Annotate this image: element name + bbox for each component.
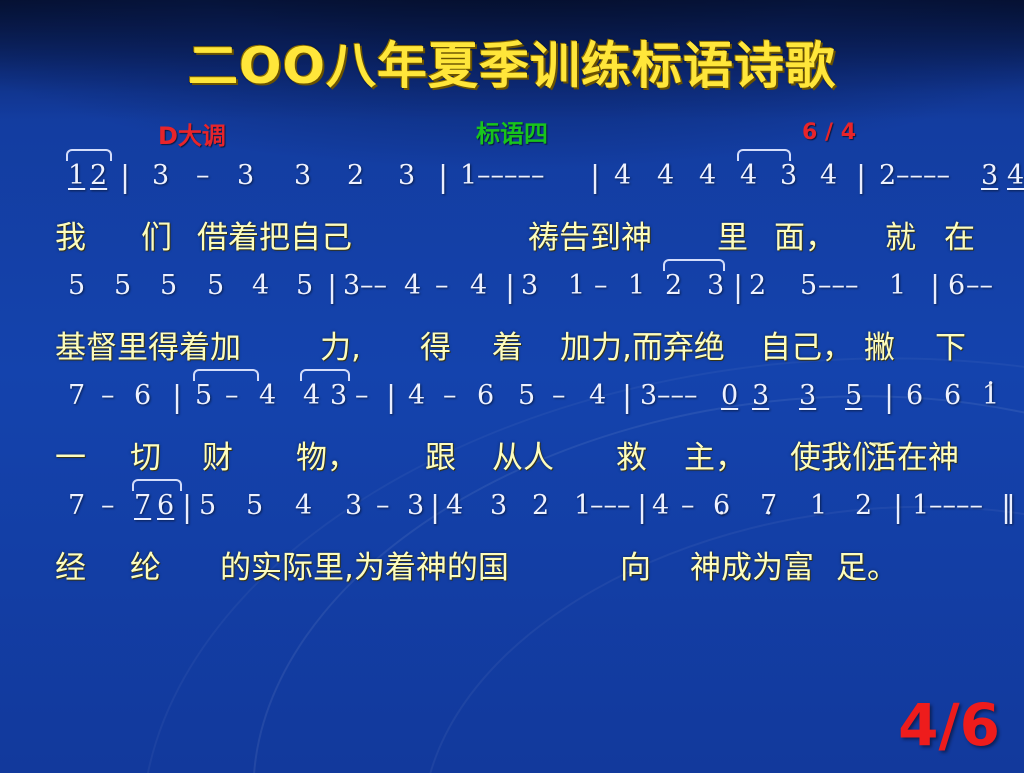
- lyric-token: 力,: [320, 322, 361, 367]
- lyric-token: 里: [717, 212, 748, 257]
- slur-mark: [737, 149, 791, 161]
- note-token: 4: [295, 490, 312, 521]
- note-token: 2: [665, 270, 682, 301]
- lyric-token: 一: [55, 432, 86, 477]
- note-token: 1: [574, 490, 591, 521]
- slur-mark: [663, 259, 725, 271]
- note-token: –––: [590, 490, 631, 521]
- note-token: 4: [657, 160, 674, 191]
- lyric-token: 救: [616, 432, 647, 477]
- note-token: |: [622, 380, 632, 415]
- note-token: 5: [160, 270, 177, 301]
- slur-mark: [300, 369, 350, 381]
- note-token: ––––: [929, 490, 983, 521]
- note-token: |: [172, 380, 182, 415]
- lyric-line: 经纶的实际里,为着神的国向神成为富足。: [0, 542, 1024, 600]
- note-token: 4: [404, 270, 421, 301]
- note-token: 3: [345, 490, 362, 521]
- score-system: 555545|3––4–4|31–123|25–––1|6––基督里得着加力,得…: [0, 270, 1024, 380]
- note-token: 3: [780, 160, 797, 191]
- note-token: 2: [749, 270, 766, 301]
- note-token: 2: [855, 490, 872, 521]
- note-token: 1: [68, 160, 85, 191]
- note-token: 6: [134, 380, 151, 411]
- note-token: 6: [713, 490, 730, 521]
- note-token: ––: [360, 270, 387, 301]
- note-token: |: [182, 490, 189, 525]
- note-token: –: [552, 380, 566, 411]
- slide-title: 二OO八年夏季训练标语诗歌: [0, 26, 1024, 98]
- lyric-token: 撇: [864, 322, 895, 367]
- note-token: ––––: [896, 160, 950, 191]
- lyric-token: 着: [492, 322, 523, 367]
- note-token: 1: [568, 270, 585, 301]
- note-token: –: [435, 270, 449, 301]
- note-token: –: [196, 160, 210, 191]
- notation-line: 7–76|5543–3|4321–––|4–6712|1––––‖: [0, 490, 1024, 542]
- note-token: 2: [90, 160, 107, 191]
- lyric-token: 经: [55, 542, 86, 587]
- note-token: 3: [490, 490, 507, 521]
- lyric-token: 活在神: [866, 432, 959, 477]
- note-token: 5: [246, 490, 263, 521]
- note-token: |: [327, 270, 337, 305]
- note-token: |: [856, 160, 866, 195]
- note-token: |: [637, 490, 647, 525]
- note-token: |: [884, 380, 894, 415]
- score-system: 7–6|5–443–|4–65–4|3–––0335|661一切财物，跟从人救主…: [0, 380, 1024, 490]
- lyric-token: 切: [130, 432, 161, 477]
- note-token: 4: [820, 160, 837, 191]
- notation-line: 555545|3––4–4|31–123|25–––1|6––: [0, 270, 1024, 322]
- note-token: |: [893, 490, 903, 525]
- note-token: 6: [477, 380, 494, 411]
- lyric-token: 纶: [130, 542, 161, 587]
- note-token: 7: [68, 380, 85, 411]
- note-token: 1: [628, 270, 645, 301]
- note-token: 5: [114, 270, 131, 301]
- notation-line: 7–6|5–443–|4–65–4|3–––0335|661: [0, 380, 1024, 432]
- score-system: 7–76|5543–3|4321–––|4–6712|1––––‖经纶的实际里,…: [0, 490, 1024, 600]
- note-token: 3: [707, 270, 724, 301]
- note-token: 6: [906, 380, 923, 411]
- note-token: |: [386, 380, 396, 415]
- note-token: |: [590, 160, 600, 195]
- lyric-token: 祷告到神: [528, 212, 652, 257]
- note-token: 3: [981, 160, 998, 191]
- note-token: 6: [948, 270, 965, 301]
- note-token: 7: [760, 490, 777, 521]
- lyric-token: 我: [55, 212, 86, 257]
- note-token: 3: [640, 380, 657, 411]
- note-token: |: [120, 160, 130, 195]
- note-token: –: [376, 490, 390, 521]
- note-token: 4: [652, 490, 669, 521]
- note-token: 5: [296, 270, 313, 301]
- lyric-token: 神成为富: [690, 542, 814, 587]
- note-token: 4: [470, 270, 487, 301]
- note-token: 0: [721, 380, 738, 411]
- note-token: 3: [330, 380, 347, 411]
- page-number: 4/6: [898, 691, 1000, 759]
- note-token: 4: [614, 160, 631, 191]
- note-token: 1: [912, 490, 929, 521]
- lyric-token: 得: [420, 322, 451, 367]
- lyric-token: 跟: [425, 432, 456, 477]
- slur-mark: [132, 479, 182, 491]
- lyric-token: 主，: [684, 432, 746, 477]
- note-token: 2: [347, 160, 364, 191]
- note-token: 4: [446, 490, 463, 521]
- note-token: |: [430, 490, 440, 525]
- note-token: –: [681, 490, 695, 521]
- lyric-token: 自己，: [760, 322, 853, 367]
- note-token: 4: [408, 380, 425, 411]
- lyric-token: 基督里得着加: [55, 322, 241, 367]
- lyric-token: 就: [885, 212, 916, 257]
- note-token: 4: [740, 160, 757, 191]
- note-token: –––: [818, 270, 859, 301]
- note-token: 4: [589, 380, 606, 411]
- note-token: |: [438, 160, 448, 195]
- note-token: 5: [518, 380, 535, 411]
- note-token: 5: [68, 270, 85, 301]
- note-token: ‖: [1001, 490, 1013, 525]
- lyric-token: 们: [141, 212, 172, 257]
- note-token: 3: [752, 380, 769, 411]
- note-token: –––––: [477, 160, 545, 191]
- note-token: 6: [157, 490, 174, 521]
- note-token: 2: [879, 160, 896, 191]
- note-token: 5: [195, 380, 212, 411]
- note-token: 4: [259, 380, 276, 411]
- note-token: 4: [699, 160, 716, 191]
- note-token: |: [733, 270, 743, 305]
- note-token: –: [355, 380, 369, 411]
- note-token: 5: [845, 380, 862, 411]
- time-signature-label: 6 / 4: [802, 120, 856, 145]
- note-token: 5: [199, 490, 216, 521]
- note-token: |: [505, 270, 515, 305]
- slur-mark: [66, 149, 112, 161]
- note-token: –: [443, 380, 457, 411]
- note-token: 4: [303, 380, 320, 411]
- lyric-line: 我们借着把自己祷告到神里面，就在: [0, 212, 1024, 270]
- note-token: –: [101, 490, 115, 521]
- lyric-token: 的实际里,为着神的国: [220, 542, 509, 587]
- note-token: –: [594, 270, 608, 301]
- note-token: 4: [252, 270, 269, 301]
- note-token: 1: [460, 160, 477, 191]
- note-token: 7: [68, 490, 85, 521]
- note-token: 3: [152, 160, 169, 191]
- lyric-token: 在: [944, 212, 975, 257]
- note-token: 3: [343, 270, 360, 301]
- note-token: 3: [237, 160, 254, 191]
- note-token: 3: [294, 160, 311, 191]
- lyric-token: 下: [935, 322, 966, 367]
- note-token: 3: [521, 270, 538, 301]
- note-token: 3: [799, 380, 816, 411]
- score-system: 12|3–3323|1–––––|444434|2––––34我们借着把自己祷告…: [0, 160, 1024, 270]
- lyric-token: 加力,而弃绝: [560, 322, 725, 367]
- lyric-token: 足。: [836, 542, 898, 587]
- note-token: –––: [657, 380, 698, 411]
- note-token: 2: [532, 490, 549, 521]
- note-token: 5: [800, 270, 817, 301]
- note-token: 3: [398, 160, 415, 191]
- lyric-token: 从人: [492, 432, 554, 477]
- score-header: D大调 标语四 6 / 4: [0, 116, 1024, 152]
- note-token: 6: [944, 380, 961, 411]
- slide-canvas: 二OO八年夏季训练标语诗歌 D大调 标语四 6 / 4 12|3–3323|1–…: [0, 0, 1024, 773]
- note-token: –: [101, 380, 115, 411]
- lyric-token: 借着把自己: [197, 212, 352, 257]
- section-label: 标语四: [0, 114, 1024, 149]
- note-token: 1: [982, 380, 999, 411]
- note-token: |: [930, 270, 940, 305]
- note-token: 1: [889, 270, 906, 301]
- note-token: 3: [407, 490, 424, 521]
- note-token: ––: [966, 270, 993, 301]
- note-token: 1: [810, 490, 827, 521]
- note-token: 5: [207, 270, 224, 301]
- note-token: –: [225, 380, 239, 411]
- lyric-token: 物，: [296, 432, 358, 477]
- notation-line: 12|3–3323|1–––––|444434|2––––34: [0, 160, 1024, 212]
- lyric-token: 财: [202, 432, 233, 477]
- note-token: 4: [1007, 160, 1024, 191]
- slur-mark: [193, 369, 259, 381]
- note-token: 7: [134, 490, 151, 521]
- lyric-token: 面，: [774, 212, 836, 257]
- lyric-token: 向: [620, 542, 651, 587]
- musical-score: 12|3–3323|1–––––|444434|2––––34我们借着把自己祷告…: [0, 160, 1024, 600]
- lyric-line: 基督里得着加力,得着加力,而弃绝自己，撇下: [0, 322, 1024, 380]
